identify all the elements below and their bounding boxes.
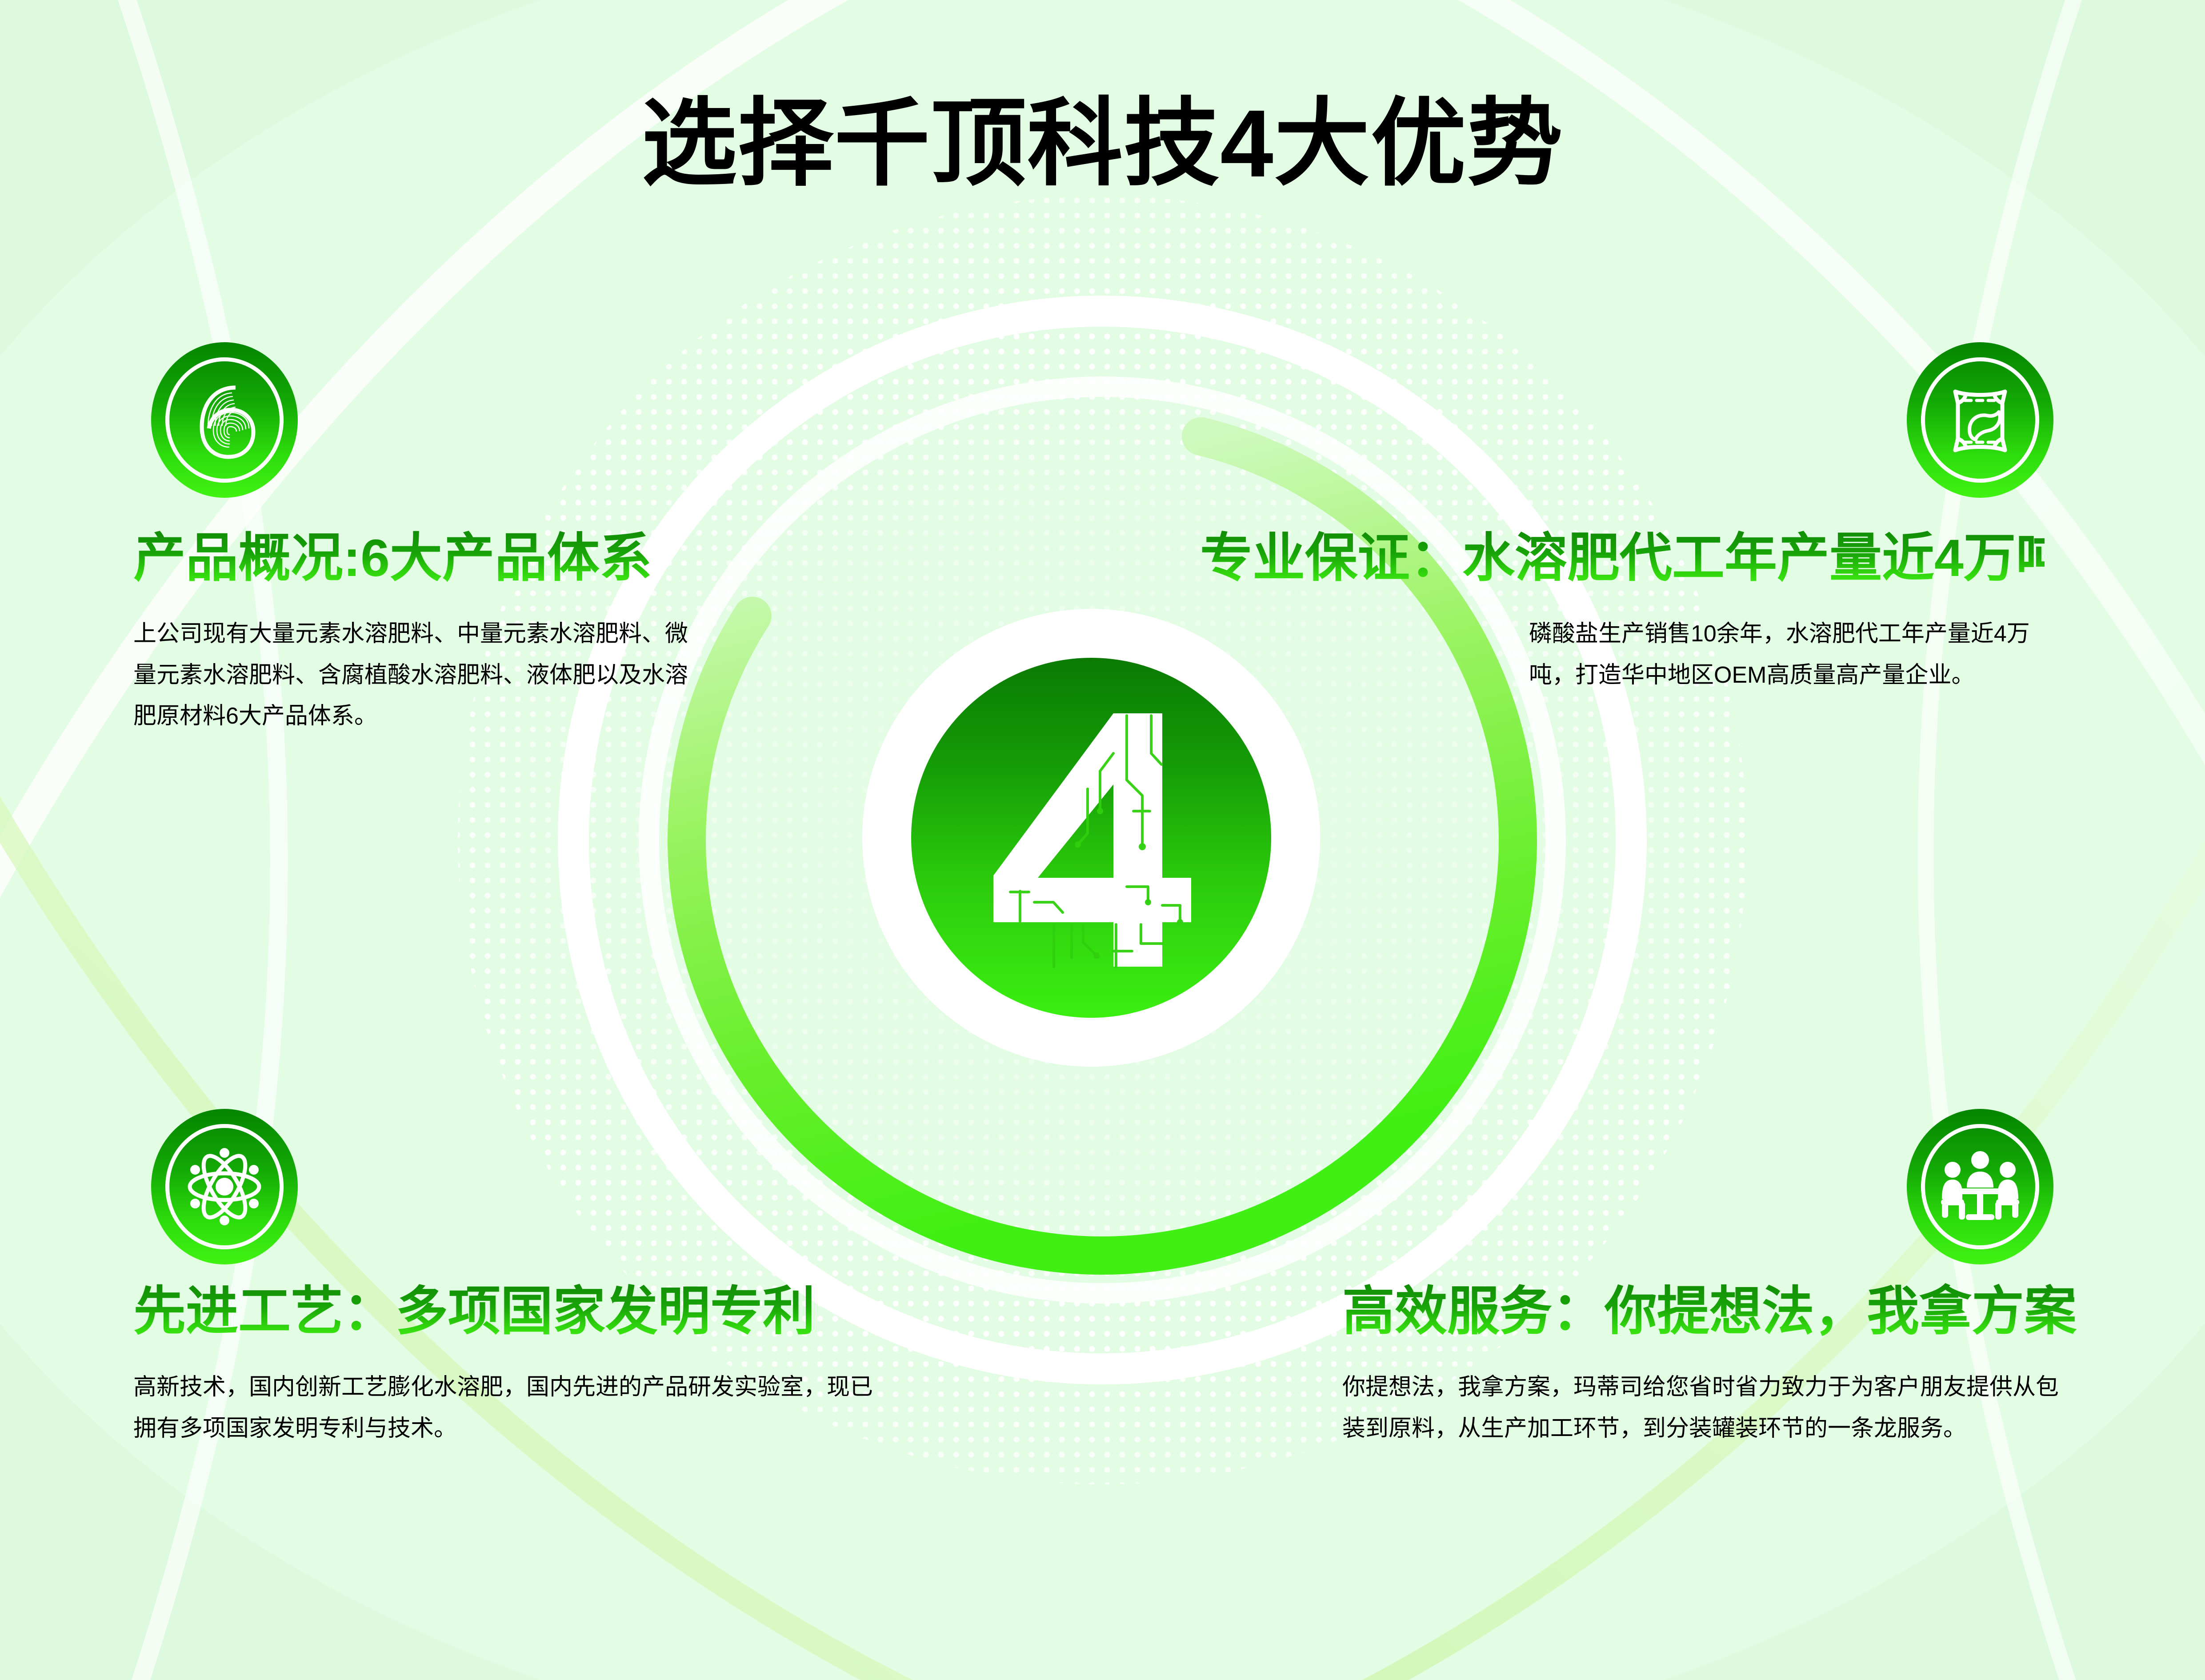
fertilizer-bag-icon bbox=[1940, 376, 2020, 464]
feature-capacity: 专业保证：水溶肥代工年产量近4万吨 磷酸盐生产销售10余年，水溶肥代工年产量近4… bbox=[1200, 529, 2045, 696]
center-number bbox=[911, 658, 1271, 1018]
badge-fertilizer-bag[interactable] bbox=[1907, 342, 2053, 498]
feature-title: 高效服务：你提想法，我拿方案 bbox=[1342, 1282, 2080, 1341]
feature-body: 高新技术，国内创新工艺膨化水溶肥，国内先进的产品研发实验室，现已拥有多项国家发明… bbox=[133, 1367, 889, 1449]
badge-meeting-people[interactable] bbox=[1907, 1109, 2053, 1264]
atom-icon bbox=[180, 1142, 269, 1231]
feature-title: 先进工艺：多项国家发明专利 bbox=[133, 1282, 889, 1341]
feature-title: 专业保证：水溶肥代工年产量近4万吨 bbox=[1200, 529, 2045, 588]
badge-atom[interactable] bbox=[151, 1109, 298, 1264]
feature-body: 上公司现有大量元素水溶肥料、中量元素水溶肥料、微量元素水溶肥料、含腐植酸水溶肥料… bbox=[133, 613, 693, 737]
infographic-canvas: 选择千顶科技4大优势 bbox=[0, 0, 2205, 1680]
circuit-four-icon bbox=[967, 700, 1216, 976]
page-title: 选择千顶科技4大优势 bbox=[0, 96, 2205, 191]
badge-six-product-lines[interactable] bbox=[151, 342, 298, 498]
feature-process: 先进工艺：多项国家发明专利 高新技术，国内创新工艺膨化水溶肥，国内先进的产品研发… bbox=[133, 1282, 889, 1449]
meeting-people-icon bbox=[1936, 1147, 2025, 1227]
feature-body: 你提想法，我拿方案，玛蒂司给您省时省力致力于为客户朋友提供从包装到原料，从生产加… bbox=[1342, 1367, 2080, 1449]
feature-product: 产品概况:6大产品体系 上公司现有大量元素水溶肥料、中量元素水溶肥料、微量元素水… bbox=[133, 529, 693, 737]
feature-service: 高效服务：你提想法，我拿方案 你提想法，我拿方案，玛蒂司给您省时省力致力于为客户… bbox=[1342, 1282, 2080, 1449]
six-product-lines-icon bbox=[182, 373, 267, 467]
feature-title: 产品概况:6大产品体系 bbox=[133, 529, 693, 588]
feature-body: 磷酸盐生产销售10余年，水溶肥代工年产量近4万吨，打造华中地区OEM高质量高产量… bbox=[1529, 613, 2045, 696]
